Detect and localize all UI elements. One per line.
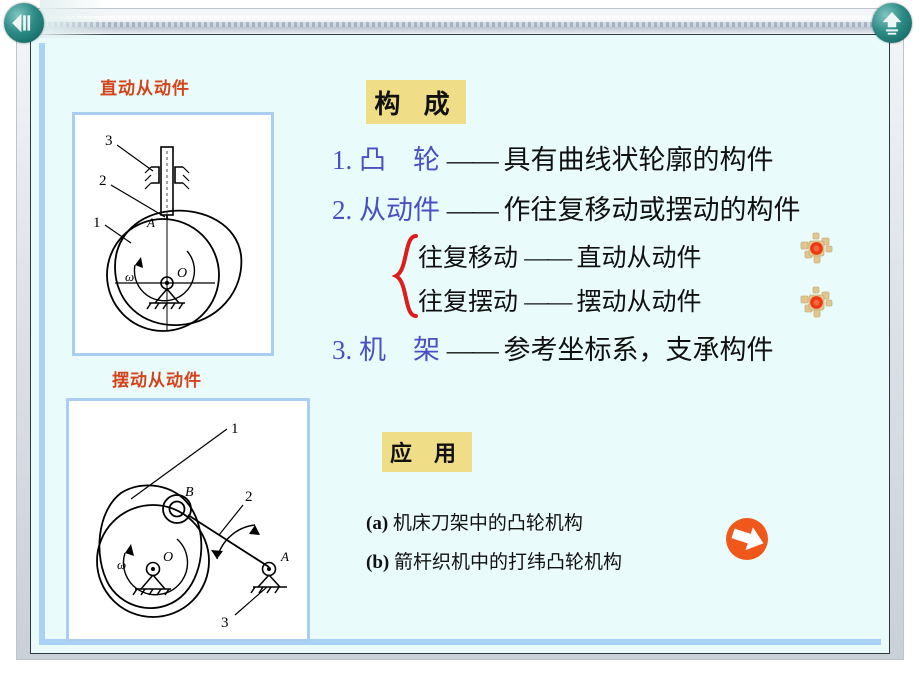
diagram-label-omega: ω [117,557,126,572]
caption-linear-follower: 直动从动件 [100,74,190,99]
diagram-label: 3 [105,133,113,149]
diagram-label: 2 [99,173,107,189]
diagram-label: O [177,266,187,281]
item-term: 从动件 [359,195,440,225]
diagram-label: A [146,215,155,230]
item-dash: —— [447,335,497,365]
composition-item-3: 3. 机 架 —— 参考坐标系，支承构件 [332,328,774,367]
application-item-b: (b) 箭杆织机中的打纬凸轮机构 [366,547,622,574]
diagram-label: 2 [245,489,253,505]
application-tag: (b) [366,552,389,573]
subitem-dash: —— [524,289,570,316]
curly-brace-icon [392,234,418,318]
slide-stage: 直动从动件 摆动从动件 [0,0,920,690]
puzzle-piece-icon [800,232,834,266]
frame-top-bar [22,16,898,33]
item-term: 机 架 [359,335,440,365]
orange-arrow-circle-icon [724,516,770,562]
item-number: 3. [332,335,352,365]
application-tag: (a) [366,513,388,534]
item-desc: 具有曲线状轮廓的构件 [504,145,774,175]
composition-item-2: 2. 从动件 —— 作往复移动或摆动的构件 [332,188,801,227]
puzzle-piece-icon [800,286,834,320]
up-navigation-button[interactable] [872,3,912,43]
subitem-left: 往复摆动 [418,289,518,316]
diagram-label: B [185,485,194,500]
heading-composition: 构 成 [366,80,466,124]
diagram-linear-cam-mechanism: 3 2 1 A O ω [72,112,274,356]
application-text: 箭杆织机中的打纬凸轮机构 [394,552,622,573]
prev-button-glow [40,0,108,38]
item-number: 2. [332,195,352,225]
diagram-label: 1 [93,215,101,231]
item-term: 凸 轮 [359,145,440,175]
previous-slide-icon [7,6,41,40]
composition-item-1: 1. 凸 轮 —— 具有曲线状轮廓的构件 [332,138,774,177]
up-arrow-icon [875,6,909,40]
item-dash: —— [447,145,497,175]
caption-oscillating-follower: 摆动从动件 [112,366,202,391]
diagram-label: A [280,549,289,564]
composition-subitem-1: 往复移动 —— 直动从动件 [418,238,702,274]
application-text: 机床刀架中的凸轮机构 [393,513,583,534]
linear-cam-drawing: 3 2 1 A O ω [75,115,271,353]
diagram-oscillating-cam-mechanism: 1 2 3 B A O ω [66,398,310,642]
subitem-right: 摆动从动件 [577,289,702,316]
heading-application: 应 用 [382,432,472,472]
diagram-label-omega: ω [125,269,134,284]
application-item-a: (a) 机床刀架中的凸轮机构 [366,508,583,535]
item-number: 1. [332,145,352,175]
diagram-label: 3 [221,615,229,631]
item-desc: 作往复移动或摆动的构件 [504,195,801,225]
diagram-label: 1 [231,421,239,437]
previous-slide-button[interactable] [4,3,44,43]
subitem-left: 往复移动 [418,245,518,272]
item-desc: 参考坐标系，支承构件 [504,335,774,365]
diagram-label: O [163,550,173,565]
oscillating-cam-drawing: 1 2 3 B A O ω [69,401,307,639]
composition-subitem-2: 往复摆动 —— 摆动从动件 [418,282,702,318]
item-dash: —— [447,195,497,225]
subitem-dash: —— [524,245,570,272]
subitem-right: 直动从动件 [577,245,702,272]
